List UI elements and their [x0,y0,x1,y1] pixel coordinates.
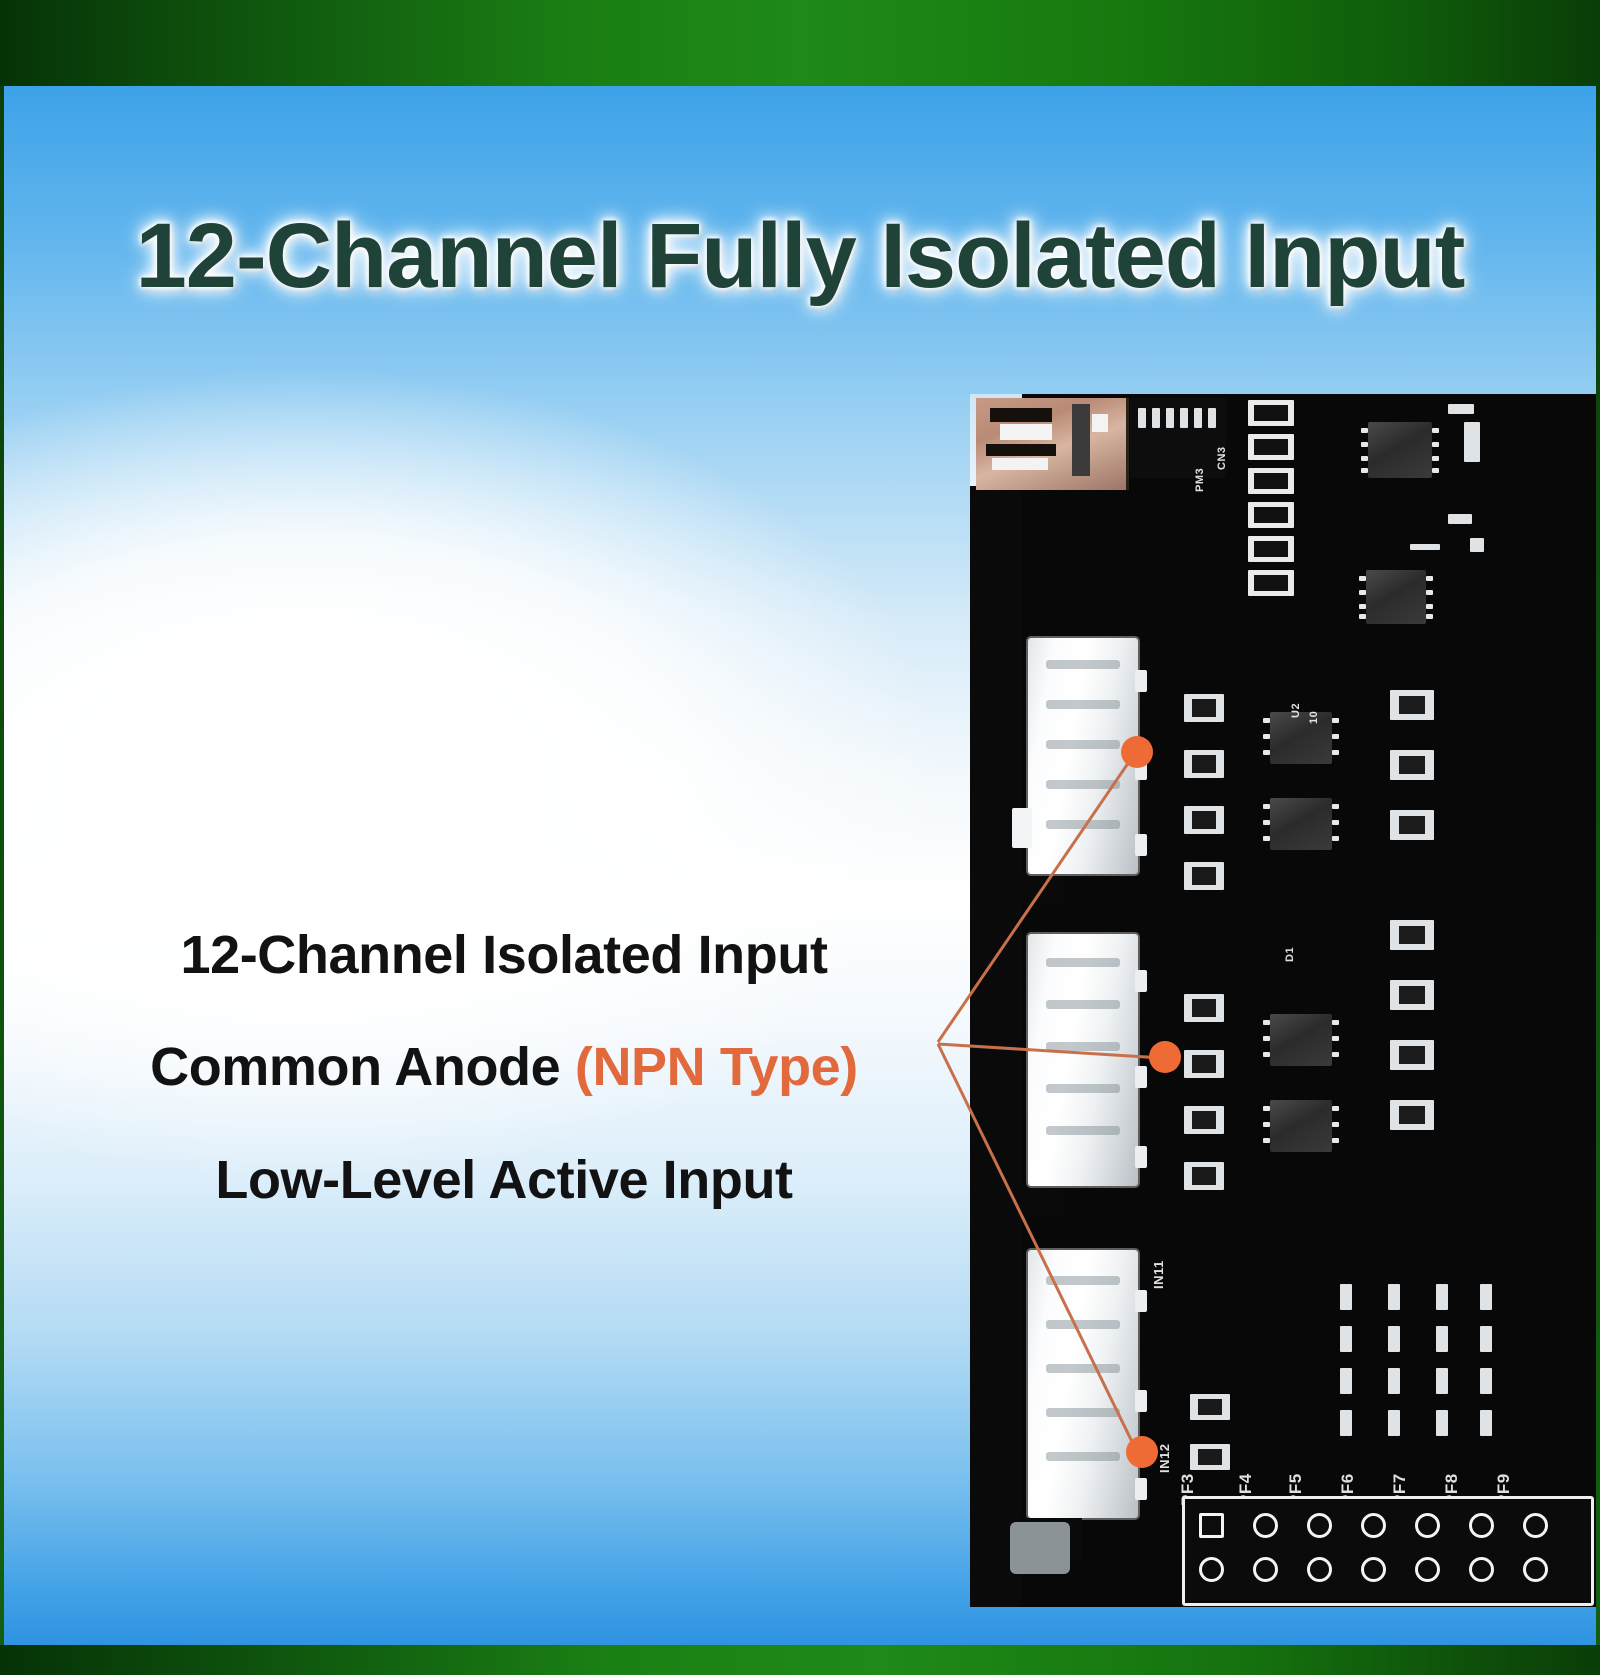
terminal-connector-bottom [1028,1250,1138,1518]
silk-label-u2: U2 [1290,703,1302,718]
feature-line-1: 12-Channel Isolated Input [124,916,884,994]
pcb-left-edge [970,486,1022,1607]
feature-line-2: Common Anode (NPN Type) [124,1028,884,1106]
mounting-screw [1010,1522,1070,1574]
slide-canvas: 12-Channel Fully Isolated Input [4,86,1596,1645]
optocoupler-ic [1270,712,1332,764]
ic-chip [1368,422,1432,478]
optocoupler-ic [1270,1014,1332,1066]
optocoupler-ic [1270,798,1332,850]
feature-line-2-highlight: (NPN Type) [575,1037,858,1097]
silk-label-cn3: CN3 [1216,446,1228,470]
ic-chip [1366,570,1426,624]
pin-header-connector [1182,1496,1594,1606]
page-title: 12-Channel Fully Isolated Input [4,204,1596,309]
frame-band-top [0,0,1600,86]
silk-label-in12: IN12 [1157,1444,1172,1473]
frame-band-right [1596,86,1600,1645]
feature-line-2-plain: Common Anode [150,1037,575,1097]
terminal-connector-middle [1028,934,1138,1186]
optocoupler-ic [1270,1100,1332,1152]
component-field-right [1390,690,1570,1290]
feature-text-block: 12-Channel Isolated Input Common Anode (… [124,916,884,1219]
silk-label-10: 10 [1308,711,1320,724]
silk-label-in11: IN11 [1151,1260,1166,1289]
terminal-connector-top [1028,638,1138,874]
feature-line-3: Low-Level Active Input [124,1141,884,1219]
usb-connector-icon [976,398,1129,490]
silk-label-pm3: PM3 [1194,468,1206,492]
silk-ladder [1246,396,1298,626]
silk-label-u3: D1 [1284,947,1296,962]
frame-band-bottom [0,1645,1600,1675]
slide-root: 12-Channel Fully Isolated Input [0,0,1600,1675]
pcb-photo: CN3 PM3 [970,394,1596,1607]
resistor-array-left [1180,694,1300,1254]
